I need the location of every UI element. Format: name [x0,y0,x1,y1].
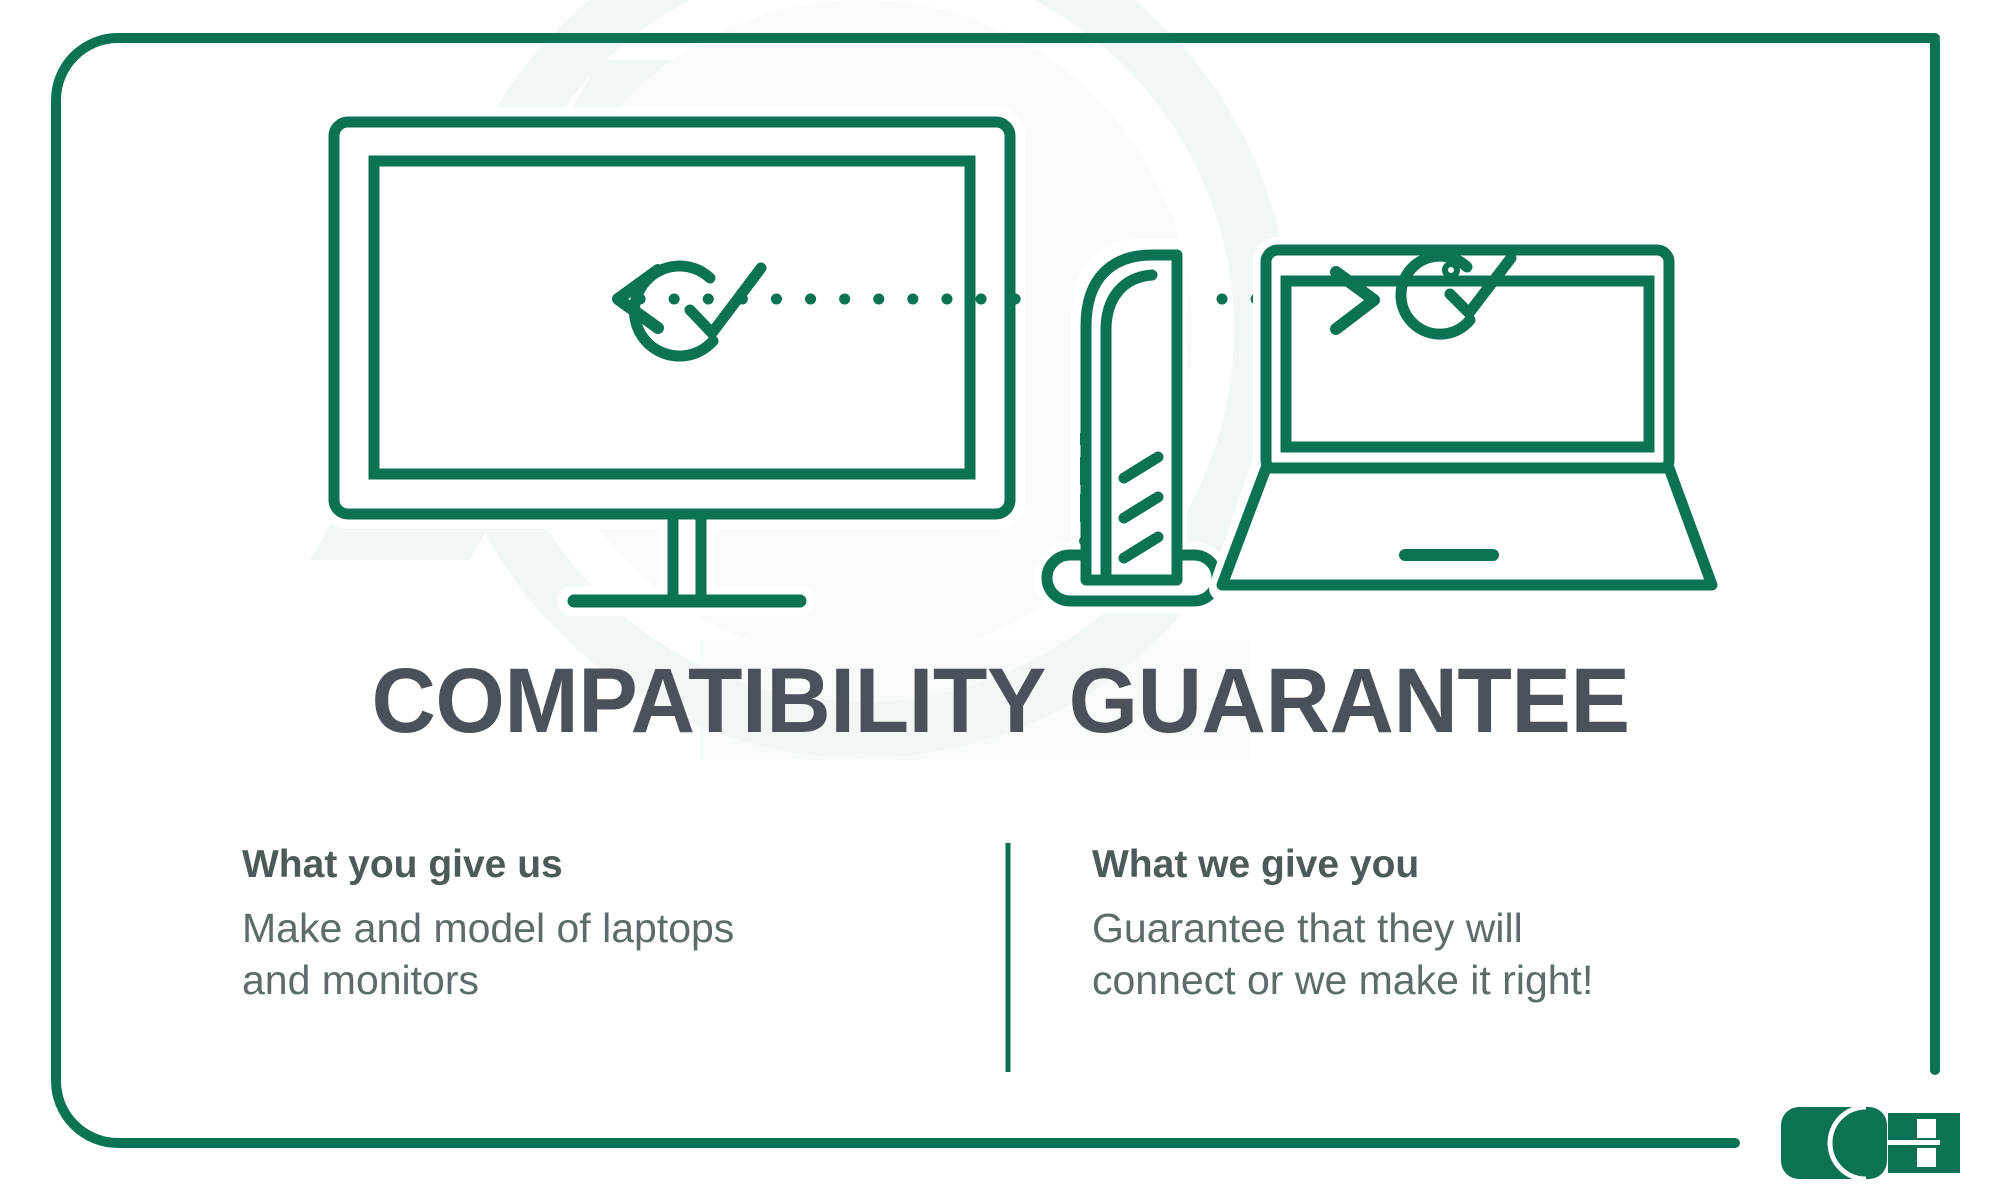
column-body-right: Guarantee that they will connect or we m… [1092,902,1812,1007]
infographic-card: COMPATIBILITY GUARANTEE What you give us… [0,0,2001,1201]
column-heading-right: What we give you [1092,845,1812,884]
column-body-right-line-2: connect or we make it right! [1092,954,1812,1006]
docking-station-icon [1047,252,1217,601]
dock-body [1086,255,1177,580]
column-body-left: Make and model of laptops and monitors [242,902,942,1007]
usb-plug-logo [1781,1107,1960,1179]
laptop-base [1222,468,1712,585]
column-what-you-give-us: What you give us Make and model of lapto… [242,845,942,1007]
column-body-left-line-1: Make and model of laptops [242,902,942,954]
artboard-graphics [0,0,2001,1201]
logo-plug-body [1781,1107,1887,1179]
column-body-left-line-2: and monitors [242,954,942,1006]
monitor-screen [374,161,970,474]
laptop-icon [1222,250,1712,588]
page-title: COMPATIBILITY GUARANTEE [30,655,1971,747]
column-heading-left: What you give us [242,845,942,884]
column-what-we-give-you: What we give you Guarantee that they wil… [1092,845,1812,1007]
column-body-right-line-1: Guarantee that they will [1092,902,1812,954]
laptop-webcam [1445,264,1457,276]
